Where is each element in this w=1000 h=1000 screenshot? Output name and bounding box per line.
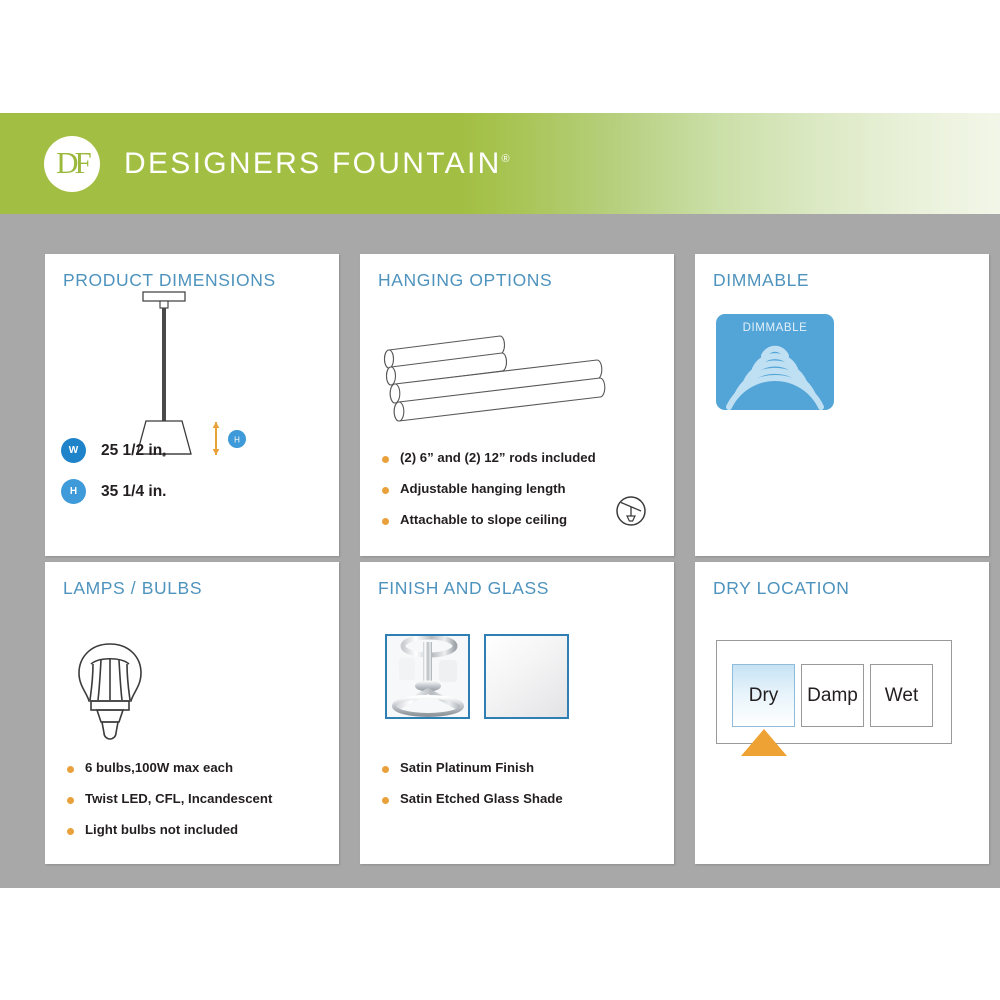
spec-sheet: DF DESIGNERS FOUNTAIN® PRODUCT DIMENSION… — [0, 0, 1000, 1000]
height-badge: H — [61, 479, 86, 504]
panel-title-dimmable: DIMMABLE — [713, 270, 971, 291]
lamps-bulbs-bullets: 6 bulbs,100W max each Twist LED, CFL, In… — [67, 760, 325, 853]
hanging-bullet-rods: (2) 6” and (2) 12” rods included — [400, 450, 596, 466]
satin-platinum-finish-swatch — [385, 634, 470, 719]
dimmable-badge-icon: DIMMABLE — [716, 314, 834, 410]
panel-dry-location: DRY LOCATION Dry Damp Wet — [695, 562, 989, 864]
panel-title-dry-location: DRY LOCATION — [713, 578, 971, 599]
dimmer-waves-icon — [716, 336, 834, 410]
pendant-light-diagram: W H — [87, 288, 287, 458]
panel-title-lamps-bulbs: LAMPS / BULBS — [63, 578, 321, 599]
hanging-bullet-slope: Attachable to slope ceiling — [400, 512, 567, 528]
slope-ceiling-icon — [614, 494, 648, 528]
bullet-dot-icon — [382, 518, 389, 525]
bulbs-bullet-not-included: Light bulbs not included — [85, 822, 238, 838]
panel-dimmable: DIMMABLE DIMMABLE — [695, 254, 989, 556]
selected-rating-pointer-icon — [741, 729, 787, 756]
bullet-dot-icon — [67, 797, 74, 804]
finish-bullet-glass: Satin Etched Glass Shade — [400, 791, 563, 807]
list-item: Satin Etched Glass Shade — [382, 791, 660, 807]
panel-title-hanging-options: HANGING OPTIONS — [378, 270, 656, 291]
location-cell-damp[interactable]: Damp — [801, 664, 864, 727]
height-value: 35 1/4 in. — [101, 483, 166, 501]
dimension-row-height: H 35 1/4 in. — [61, 479, 166, 504]
panel-product-dimensions: PRODUCT DIMENSIONS W — [45, 254, 339, 556]
bulbs-bullet-types: Twist LED, CFL, Incandescent — [85, 791, 272, 807]
dimmable-badge-label: DIMMABLE — [716, 322, 834, 334]
width-badge: W — [61, 438, 86, 463]
panels-grid: PRODUCT DIMENSIONS W — [45, 254, 969, 864]
panel-lamps-bulbs: LAMPS / BULBS 6 bul — [45, 562, 339, 864]
location-cell-wet[interactable]: Wet — [870, 664, 933, 727]
satin-etched-glass-swatch — [484, 634, 569, 719]
bullet-dot-icon — [382, 456, 389, 463]
dimension-values-list: W 25 1/2 in. H 35 1/4 in. — [61, 438, 166, 520]
brand-name: DESIGNERS FOUNTAIN® — [124, 147, 510, 181]
list-item: 6 bulbs,100W max each — [67, 760, 325, 776]
bullet-dot-icon — [67, 766, 74, 773]
panel-hanging-options: HANGING OPTIONS — [360, 254, 674, 556]
registered-trademark-icon: ® — [502, 153, 510, 165]
hanging-rods-diagram — [378, 312, 638, 432]
swatch-row — [385, 634, 569, 719]
light-bulb-icon — [71, 638, 149, 746]
hanging-bullet-adjustable: Adjustable hanging length — [400, 481, 566, 497]
dimension-row-width: W 25 1/2 in. — [61, 438, 166, 463]
panel-finish-and-glass: FINISH AND GLASS — [360, 562, 674, 864]
bullet-dot-icon — [67, 828, 74, 835]
location-cell-dry[interactable]: Dry — [732, 664, 795, 727]
bulbs-bullet-count: 6 bulbs,100W max each — [85, 760, 233, 776]
width-value: 25 1/2 in. — [101, 442, 166, 460]
list-item: Twist LED, CFL, Incandescent — [67, 791, 325, 807]
logo-monogram-df: DF — [44, 136, 100, 192]
location-rating-cells: Dry Damp Wet — [732, 664, 933, 727]
list-item: Light bulbs not included — [67, 822, 325, 838]
bullet-dot-icon — [382, 797, 389, 804]
brand-header: DF DESIGNERS FOUNTAIN® — [0, 113, 1000, 214]
diagram-height-badge-label: H — [234, 436, 240, 445]
finish-glass-bullets: Satin Platinum Finish Satin Etched Glass… — [382, 760, 660, 822]
finish-bullet-platinum: Satin Platinum Finish — [400, 760, 534, 776]
brand-name-text: DESIGNERS FOUNTAIN — [124, 147, 502, 180]
list-item: Satin Platinum Finish — [382, 760, 660, 776]
panel-title-finish-and-glass: FINISH AND GLASS — [378, 578, 656, 599]
list-item: (2) 6” and (2) 12” rods included — [382, 450, 660, 466]
location-rating-box: Dry Damp Wet — [716, 640, 952, 744]
designers-fountain-logo: DF — [44, 136, 100, 192]
bullet-dot-icon — [382, 766, 389, 773]
bullet-dot-icon — [382, 487, 389, 494]
